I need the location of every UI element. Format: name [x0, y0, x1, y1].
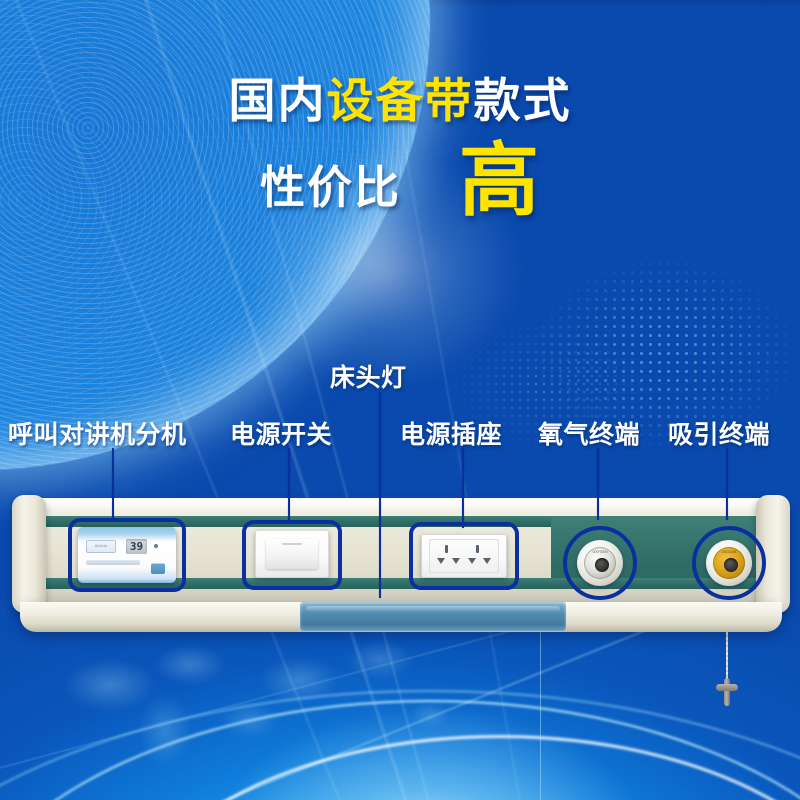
callout-line-intercom [112, 448, 114, 520]
callout-label-intercom: 呼叫对讲机分机 [8, 415, 187, 451]
callout-line-bedside-lamp [379, 392, 381, 598]
callout-label-power-switch: 电源开关 [230, 415, 332, 451]
callout-label-suction: 吸引终端 [668, 415, 770, 451]
callout-label-oxygen: 氧气终端 [538, 415, 640, 451]
callout-line-suction [726, 448, 728, 520]
callout-line-power-switch [288, 448, 290, 523]
callout-group: 床头灯 呼叫对讲机分机 电源开关 电源插座 氧气终端 吸引终端 [0, 0, 800, 800]
promo-banner: 国内设备带款式 性价比 高 床头灯 呼叫对讲机分机 电源开关 电源插座 氧气终端… [0, 0, 800, 800]
callout-line-oxygen [597, 448, 599, 520]
callout-label-bedside-lamp: 床头灯 [330, 358, 407, 394]
callout-line-power-socket [462, 448, 464, 528]
callout-label-power-socket: 电源插座 [400, 415, 502, 451]
